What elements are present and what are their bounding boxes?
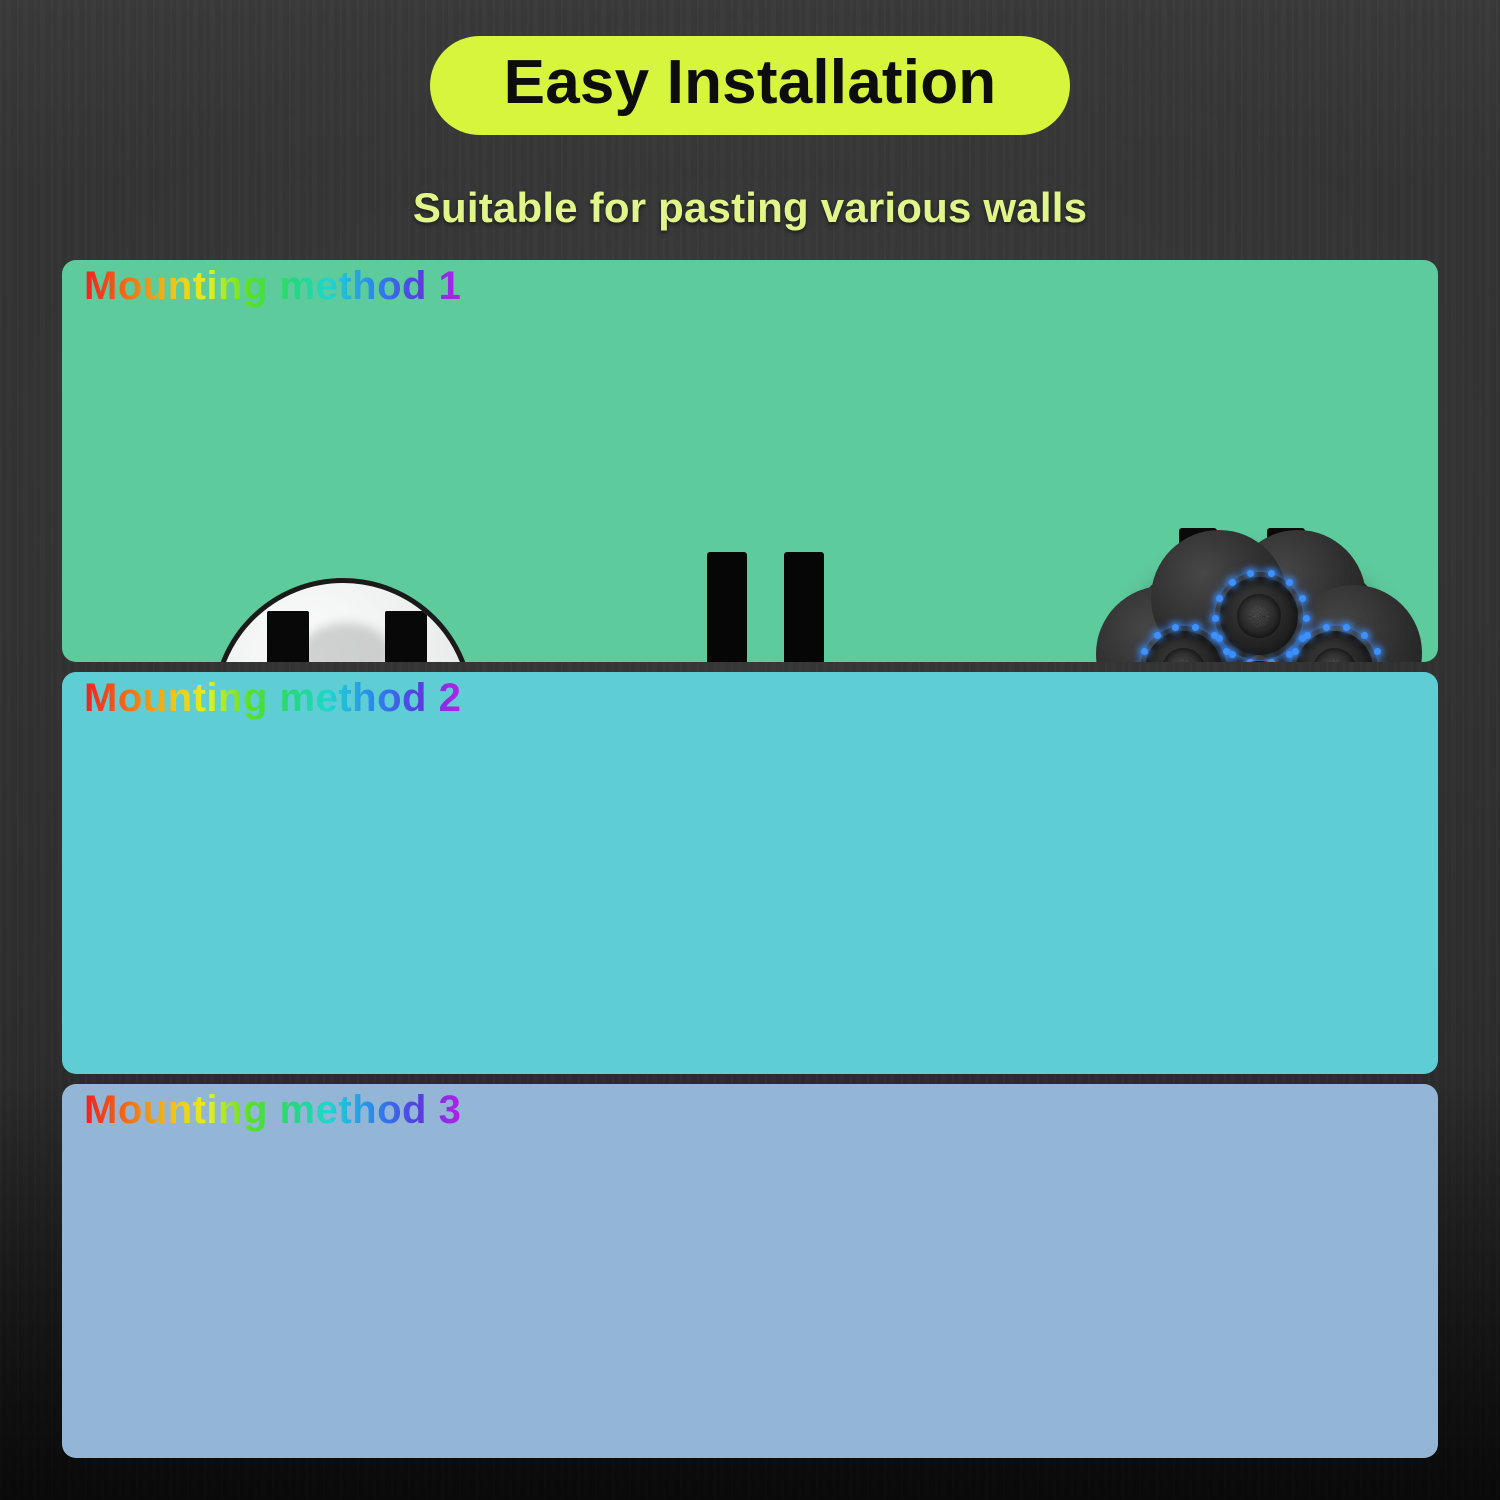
velcro-back-plate-image bbox=[212, 578, 474, 662]
led-dot bbox=[1268, 570, 1275, 577]
led-dot bbox=[1303, 615, 1310, 622]
short-velcro-strip-right bbox=[385, 611, 427, 662]
led-dot bbox=[1154, 632, 1161, 639]
page-subtitle: Suitable for pasting various walls bbox=[0, 184, 1500, 232]
page-title: Easy Installation bbox=[430, 36, 1071, 135]
led-dot bbox=[1361, 632, 1368, 639]
method-1-label: Mounting method 1 bbox=[84, 264, 461, 309]
led-dot bbox=[1141, 648, 1148, 655]
led-dot bbox=[1229, 579, 1236, 586]
mounting-method-3-panel: Mounting method 3 P01⏱−♪▶− 1. Install th… bbox=[62, 1084, 1438, 1458]
led-dot bbox=[1247, 570, 1254, 577]
header: Easy Installation bbox=[0, 36, 1500, 135]
boxing-machine-device-1: P01⏱−♪▶− bbox=[1114, 548, 1404, 662]
led-dot bbox=[1212, 615, 1219, 622]
led-dot bbox=[1323, 624, 1330, 631]
led-dot bbox=[1216, 595, 1223, 602]
method-3-label: Mounting method 3 bbox=[84, 1088, 461, 1133]
infographic-page: Easy Installation Suitable for pasting v… bbox=[0, 0, 1500, 1500]
target-pad bbox=[1220, 577, 1298, 655]
led-dot bbox=[1211, 632, 1218, 639]
target-pad bbox=[1145, 631, 1223, 662]
long-velcro-strip-left bbox=[707, 552, 747, 662]
mounting-method-1-panel: Mounting method 1 P01⏱−♪▶− 1. Attach sho… bbox=[62, 260, 1438, 662]
led-dot bbox=[1192, 624, 1199, 631]
led-dot bbox=[1292, 648, 1299, 655]
led-dot bbox=[1286, 579, 1293, 586]
mounting-method-2-panel: Mounting method 2 P01⏱−♪▶− 1. Tear off t… bbox=[62, 672, 1438, 1074]
short-velcro-strip-left bbox=[267, 611, 309, 662]
led-dot bbox=[1343, 624, 1350, 631]
led-dot bbox=[1299, 595, 1306, 602]
led-dot bbox=[1172, 624, 1179, 631]
target-pad bbox=[1296, 631, 1374, 662]
led-dot bbox=[1304, 632, 1311, 639]
long-velcro-strip-right bbox=[784, 552, 824, 662]
method-2-label: Mounting method 2 bbox=[84, 676, 461, 721]
